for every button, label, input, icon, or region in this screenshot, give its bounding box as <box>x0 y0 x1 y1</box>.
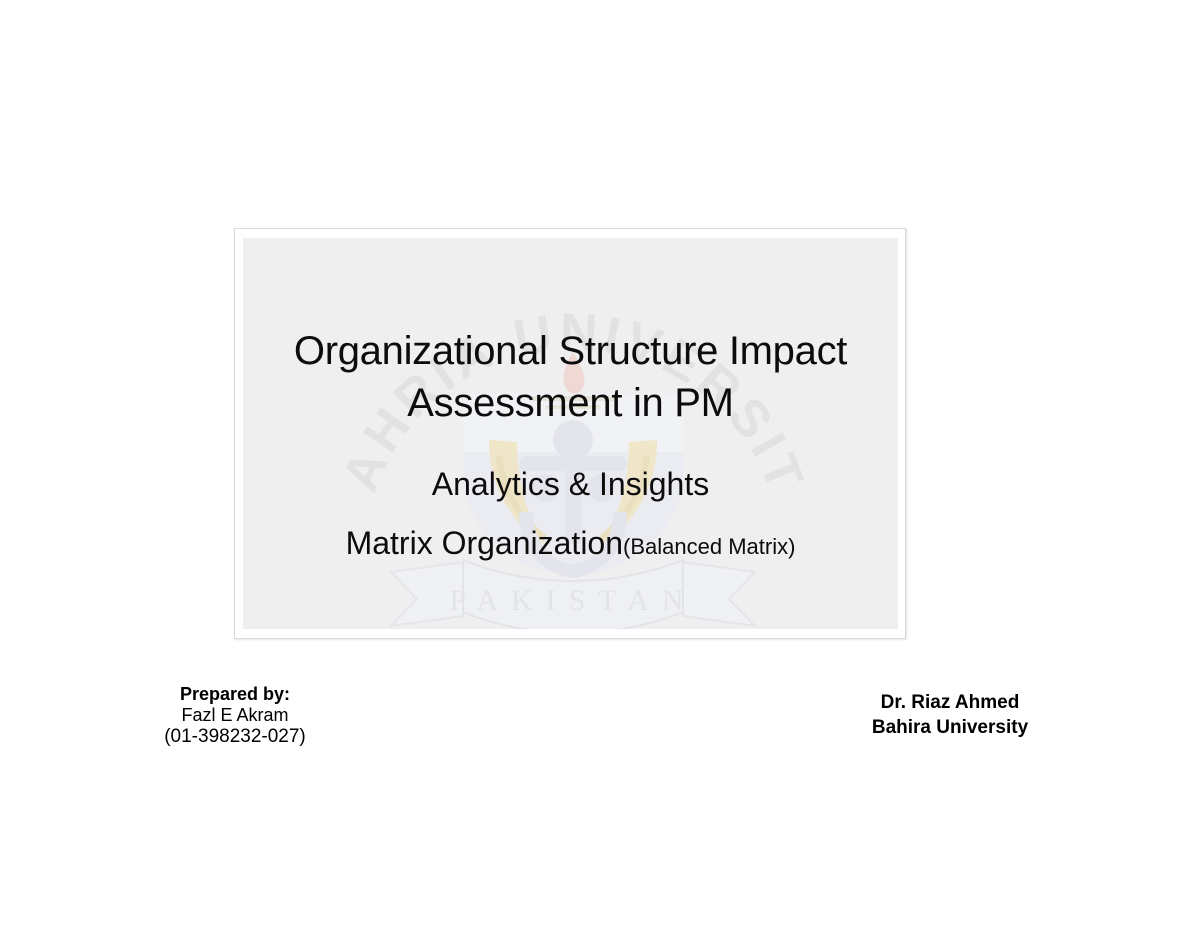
slide-text-block: Organizational Structure Impact Assessme… <box>243 238 898 629</box>
slide-subtitle-analytics: Analytics & Insights <box>243 464 898 504</box>
slide-title: Organizational Structure Impact Assessme… <box>243 325 898 429</box>
prepared-by-credit-block: Prepared by: Fazl E Akram (01-398232-027… <box>60 684 410 749</box>
slide-subtitle-matrix-qualifier: (Balanced Matrix) <box>623 534 795 559</box>
prepared-by-registration-number: (01-398232-027) <box>60 726 410 748</box>
instructor-name: Dr. Riaz Ahmed <box>790 690 1110 715</box>
title-slide-card: BAHRIA UNIVERSITY <box>234 228 906 639</box>
instructor-credit-block: Dr. Riaz Ahmed Bahira University <box>790 690 1110 740</box>
instructor-organization: Bahira University <box>790 715 1110 740</box>
slide-subtitle-matrix: Matrix Organization(Balanced Matrix) <box>243 523 898 567</box>
prepared-by-name: Fazl E Akram <box>60 705 410 726</box>
slide-subtitle-matrix-main: Matrix Organization <box>346 525 623 561</box>
prepared-by-label: Prepared by: <box>60 684 410 705</box>
slide-content-surface: BAHRIA UNIVERSITY <box>243 238 898 629</box>
presentation-title-slide-page: { "slide": { "title": "Organizational St… <box>0 0 1200 927</box>
